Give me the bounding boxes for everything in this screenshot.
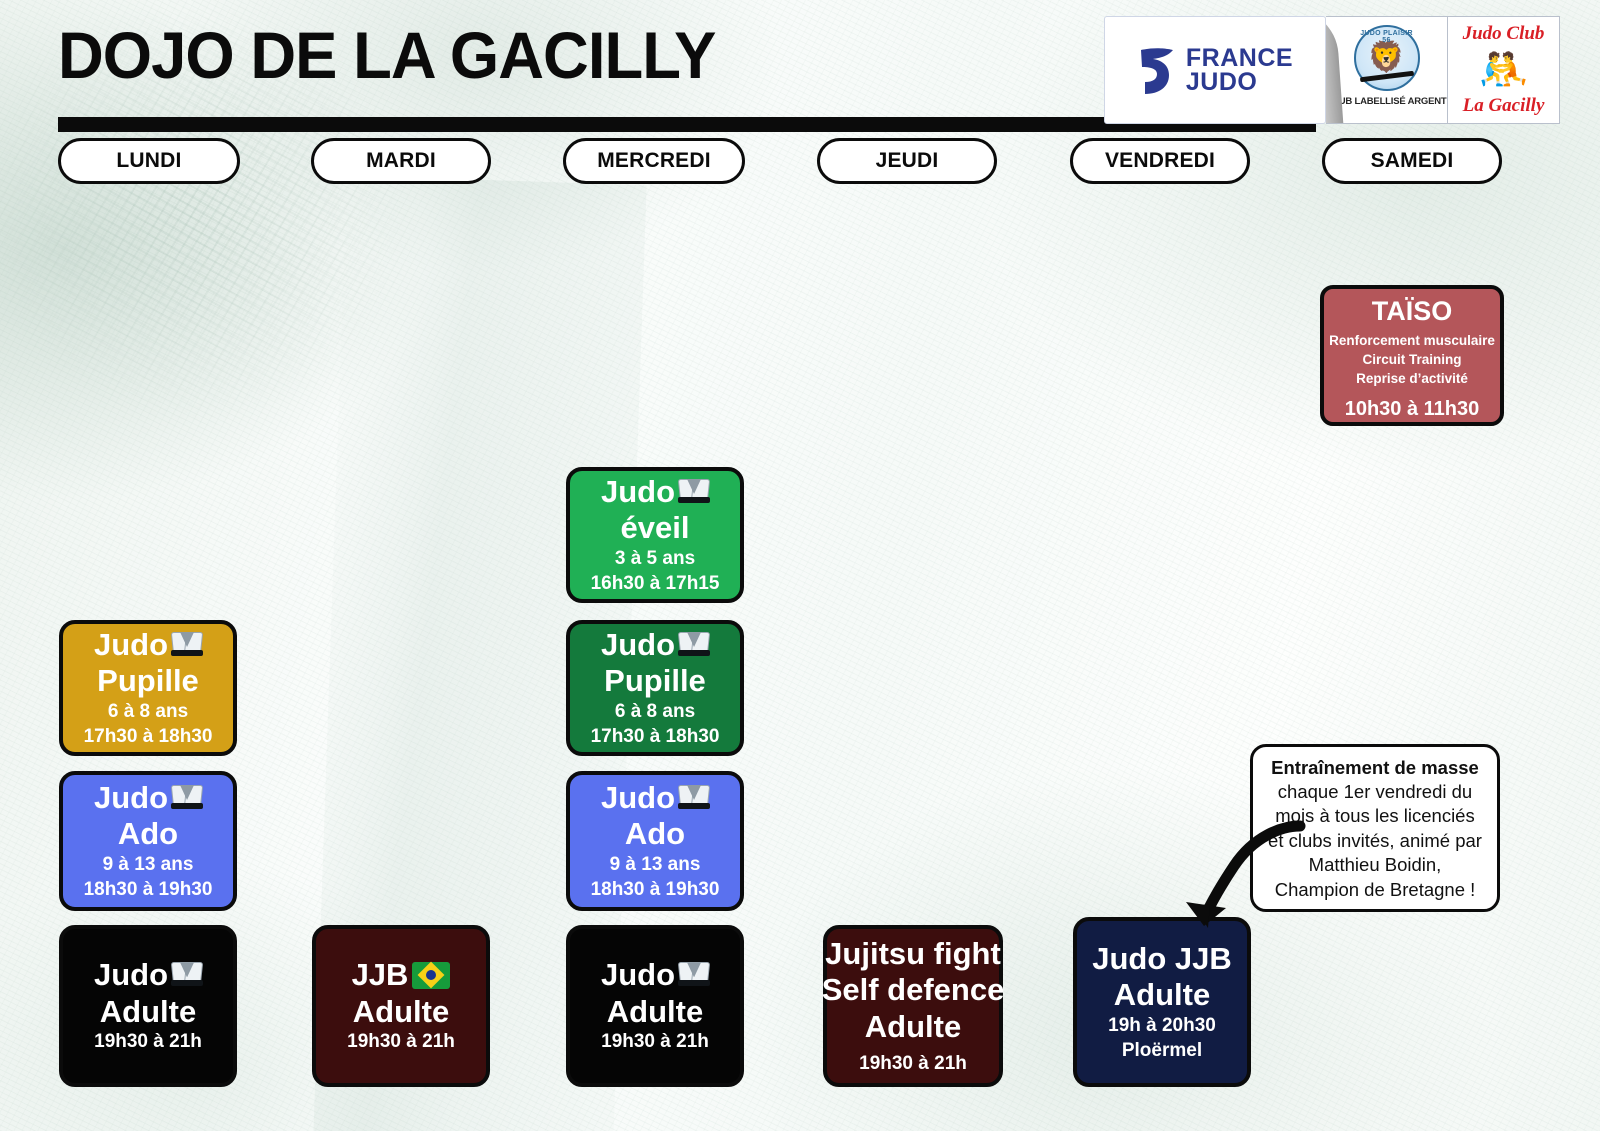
course-block-mercredi-adulte[interactable]: Judo Adulte 19h30 à 21h: [566, 925, 744, 1087]
mercredi-ado-title: Judo: [601, 780, 675, 817]
lion-head-icon: JUDO PLAISIR 56 🦁: [1354, 25, 1420, 91]
judogi-icon: [679, 962, 709, 988]
judogi-icon: [172, 962, 202, 988]
vendredi-time: 19h à 20h30: [1108, 1014, 1216, 1039]
eveil-title: Judo: [601, 474, 675, 511]
course-block-vendredi-judo-jjb[interactable]: Judo JJB Adulte 19h à 20h30 Ploërmel: [1073, 917, 1251, 1087]
mercredi-pupille-age: 6 à 8 ans: [615, 700, 695, 725]
judogi-icon: [172, 785, 202, 811]
vendredi-title: Judo JJB: [1092, 941, 1232, 978]
course-block-taiso-samedi[interactable]: TAÏSO Renforcement musculaire Circuit Tr…: [1320, 285, 1504, 426]
judogi-icon: [679, 785, 709, 811]
lundi-adulte-time: 19h30 à 21h: [94, 1030, 202, 1055]
france-judo-logo: FRANCE JUDO: [1104, 16, 1326, 124]
course-block-mercredi-ado[interactable]: Judo Ado 9 à 13 ans 18h30 à 19h30: [566, 771, 744, 911]
callout-line1: chaque 1er vendredi du: [1263, 780, 1487, 804]
lundi-pupille-time: 17h30 à 18h30: [84, 725, 213, 750]
taiso-sub2: Circuit Training: [1324, 350, 1500, 369]
course-block-mercredi-eveil[interactable]: Judo éveil 3 à 5 ans 16h30 à 17h15: [566, 467, 744, 603]
mardi-jjb-time: 19h30 à 21h: [347, 1030, 455, 1055]
lundi-ado-title: Judo: [94, 780, 168, 817]
mercredi-pupille-subtitle: Pupille: [604, 663, 706, 700]
callout-arrow-icon: [1150, 810, 1310, 940]
label-swoosh-decor: [1326, 16, 1345, 124]
brazil-flag-icon: [412, 962, 450, 989]
lundi-adulte-title: Judo: [94, 957, 168, 994]
mercredi-adulte-title: Judo: [601, 957, 675, 994]
day-header-mardi[interactable]: MARDI: [311, 138, 491, 184]
day-header-lundi[interactable]: LUNDI: [58, 138, 240, 184]
judo-club-top-text: Judo Club: [1448, 23, 1559, 45]
taiso-sub3: Reprise d’activité: [1324, 369, 1500, 388]
mercredi-pupille-time: 17h30 à 18h30: [591, 725, 720, 750]
vendredi-place: Ploërmel: [1122, 1039, 1202, 1064]
callout-title: Entraînement de masse: [1263, 756, 1487, 780]
jeudi-jujitsu-line2: Self defence: [822, 972, 1005, 1009]
eveil-subtitle: éveil: [621, 510, 690, 547]
lundi-ado-time: 18h30 à 19h30: [84, 878, 213, 903]
day-header-mercredi[interactable]: MERCREDI: [563, 138, 745, 184]
day-header-vendredi[interactable]: VENDREDI: [1070, 138, 1250, 184]
mercredi-pupille-title: Judo: [601, 627, 675, 664]
course-block-mercredi-pupille[interactable]: Judo Pupille 6 à 8 ans 17h30 à 18h30: [566, 620, 744, 756]
judogi-icon: [679, 479, 709, 505]
course-block-lundi-adulte[interactable]: Judo Adulte 19h30 à 21h: [59, 925, 237, 1087]
mercredi-adulte-time: 19h30 à 21h: [601, 1030, 709, 1055]
page-title: DOJO DE LA GACILLY: [58, 22, 715, 88]
taiso-sub1: Renforcement musculaire: [1324, 331, 1500, 350]
lundi-pupille-title: Judo: [94, 627, 168, 664]
mercredi-ado-subtitle: Ado: [625, 816, 685, 853]
france-judo-line2: JUDO: [1186, 70, 1293, 94]
logo-bar: FRANCE JUDO JUDO PLAISIR 56 🦁 CLUB LABEL…: [1104, 16, 1560, 124]
lion-badge-top-text: JUDO PLAISIR 56: [1356, 30, 1418, 44]
france-judo-line1: FRANCE: [1186, 46, 1293, 70]
course-block-mardi-jjb[interactable]: JJB Adulte 19h30 à 21h: [312, 925, 490, 1087]
mardi-jjb-title: JJB: [352, 957, 409, 994]
judogi-icon: [172, 632, 202, 658]
course-block-lundi-ado[interactable]: Judo Ado 9 à 13 ans 18h30 à 19h30: [59, 771, 237, 911]
france-judo-emblem-icon: [1137, 44, 1177, 96]
jeudi-jujitsu-time: 19h30 à 21h: [859, 1052, 967, 1077]
judo-club-bottom-text: La Gacilly: [1448, 95, 1559, 117]
day-header-samedi[interactable]: SAMEDI: [1322, 138, 1502, 184]
mercredi-adulte-subtitle: Adulte: [607, 994, 703, 1031]
lundi-pupille-age: 6 à 8 ans: [108, 700, 188, 725]
france-judo-wordmark: FRANCE JUDO: [1186, 46, 1293, 94]
vendredi-subtitle: Adulte: [1114, 977, 1210, 1014]
taiso-time: 10h30 à 11h30: [1324, 398, 1500, 421]
jeudi-jujitsu-subtitle: Adulte: [865, 1009, 961, 1046]
lundi-pupille-subtitle: Pupille: [97, 663, 199, 700]
mercredi-ado-time: 18h30 à 19h30: [591, 878, 720, 903]
judo-club-la-gacilly-logo: Judo Club 🤼 La Gacilly: [1448, 16, 1560, 124]
lundi-ado-age: 9 à 13 ans: [103, 853, 194, 878]
lundi-adulte-subtitle: Adulte: [100, 994, 196, 1031]
mardi-jjb-subtitle: Adulte: [353, 994, 449, 1031]
judoka-throw-icon: 🤼: [1479, 50, 1529, 90]
course-block-jeudi-jujitsu[interactable]: Jujitsu fight Self defence Adulte 19h30 …: [823, 925, 1003, 1087]
eveil-age: 3 à 5 ans: [615, 547, 695, 572]
mercredi-ado-age: 9 à 13 ans: [610, 853, 701, 878]
lion-glyph: 🦁: [1368, 43, 1405, 73]
club-label-caption: CLUB LABELLISÉ ARGENT: [1326, 96, 1446, 107]
course-block-lundi-pupille[interactable]: Judo Pupille 6 à 8 ans 17h30 à 18h30: [59, 620, 237, 756]
lundi-ado-subtitle: Ado: [118, 816, 178, 853]
taiso-title: TAÏSO: [1324, 297, 1500, 327]
judogi-icon: [679, 632, 709, 658]
jeudi-jujitsu-title: Jujitsu fight: [825, 936, 1001, 973]
club-label-logo: JUDO PLAISIR 56 🦁 CLUB LABELLISÉ ARGENT: [1326, 16, 1448, 124]
eveil-time: 16h30 à 17h15: [591, 572, 720, 597]
day-header-jeudi[interactable]: JEUDI: [817, 138, 997, 184]
